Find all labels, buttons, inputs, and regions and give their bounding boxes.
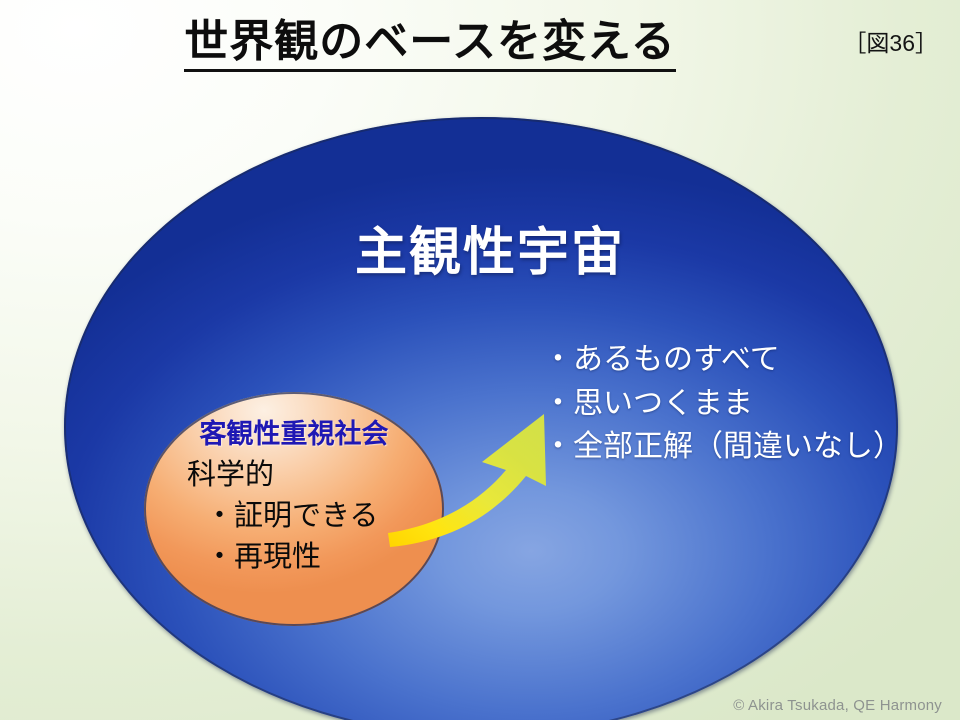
outer-bullet-1: ・あるものすべて (543, 338, 903, 382)
outer-ellipse-heading: 主観性宇宙 (300, 210, 680, 285)
curved-growth-arrow-icon (330, 400, 580, 550)
figure-label: ［図36］ (843, 24, 938, 58)
slide-canvas: 世界観のベースを変える ［図36］ 主観性宇宙 客観性重視社会 科学的 ・証明で… (0, 0, 960, 720)
copyright-footer: © Akira Tsukada, QE Harmony (733, 697, 942, 714)
outer-ellipse-bullet-list: ・あるものすべて ・思いつくまま ・全部正解（間違いなし） (543, 338, 903, 469)
page-title: 世界観のベースを変える (184, 18, 675, 72)
outer-bullet-3: ・全部正解（間違いなし） (543, 425, 903, 469)
outer-bullet-2: ・思いつくまま (543, 382, 903, 426)
page-title-container: 世界観のベースを変える (0, 18, 860, 72)
